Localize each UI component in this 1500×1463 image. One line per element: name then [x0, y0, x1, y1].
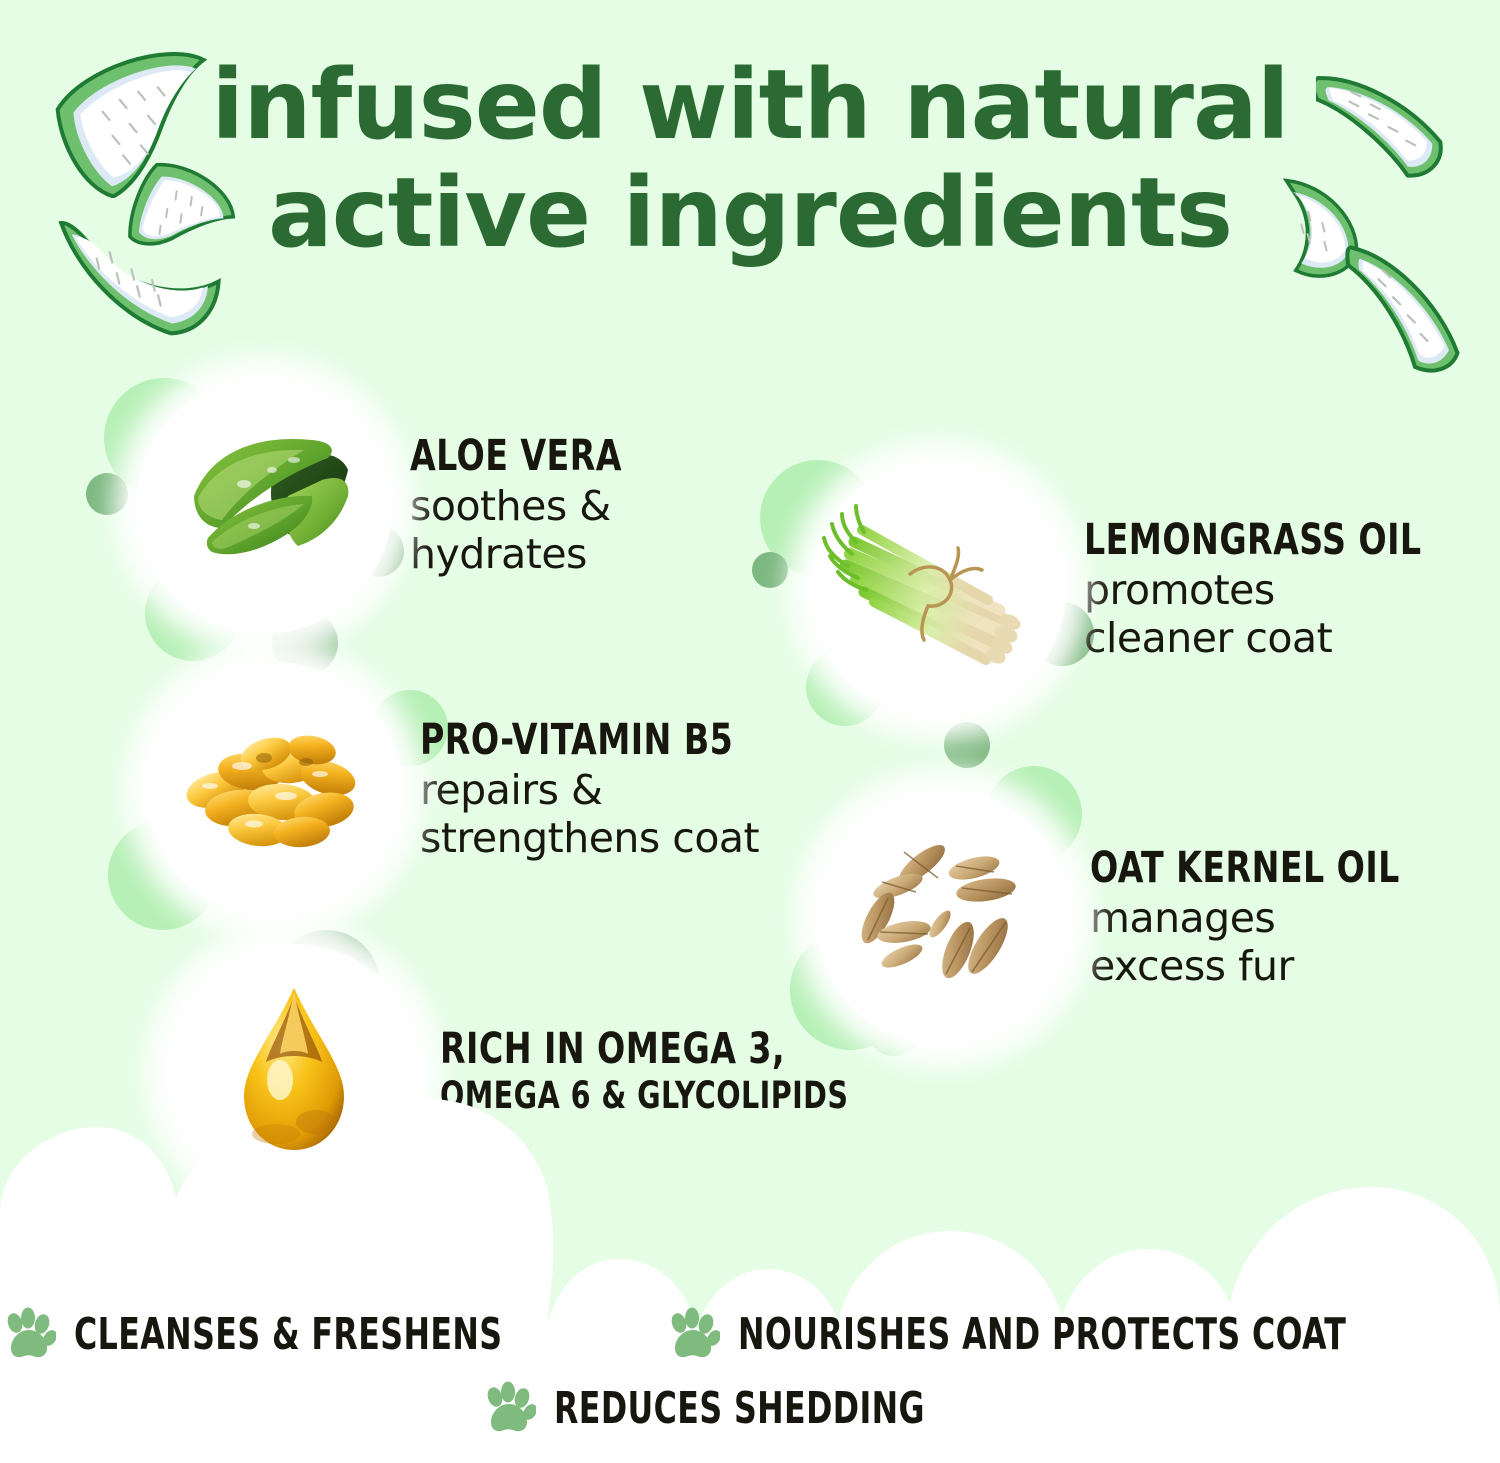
- oil-droplet-photo: [166, 944, 422, 1200]
- deco-circle-sage: [86, 473, 128, 515]
- aloe-vera-photo: [136, 378, 392, 634]
- headline-line-2: active ingredients: [0, 160, 1500, 268]
- lemongrass-photo: [810, 462, 1066, 718]
- vitamin-capsules-photo: [146, 662, 402, 918]
- benefit-item: NOURISHES AND PROTECTS COAT: [666, 1307, 1498, 1361]
- ingredient-title: RICH IN OMEGA 3,: [440, 1027, 848, 1073]
- headline-line-1: infused with natural: [211, 49, 1288, 161]
- ingredient-title: OAT KERNEL OIL: [1090, 846, 1400, 892]
- ingredient-title: ALOE VERA: [410, 434, 622, 480]
- ingredient-aloe-vera: ALOE VERA soothes & hydrates: [136, 378, 656, 634]
- pro-vitamin-b5-text: PRO-VITAMIN B5 repairs & strengthens coa…: [402, 718, 784, 863]
- benefits-row-1: CLEANSES & FRESHENS NOURISHES AND PROTEC…: [0, 1307, 1500, 1361]
- omega-photo: [166, 944, 422, 1200]
- ingredient-desc: promotes cleaner coat: [1084, 567, 1477, 662]
- benefits-bar: CLEANSES & FRESHENS NOURISHES AND PROTEC…: [0, 1307, 1500, 1435]
- ingredient-title: LEMONGRASS OIL: [1084, 518, 1422, 564]
- ingredient-title: PRO-VITAMIN B5: [420, 718, 733, 764]
- lemongrass-bundle-photo: [810, 462, 1066, 718]
- deco-circle-sage: [752, 552, 788, 588]
- benefit-label: REDUCES SHEDDING: [554, 1383, 925, 1434]
- pro-vitamin-b5-photo: [146, 662, 402, 918]
- ingredient-oat-kernel-oil: OAT KERNEL OIL manages excess fur: [816, 790, 1450, 1046]
- ingredient-omega: RICH IN OMEGA 3, OMEGA 6 & GLYCOLIPIDS: [166, 944, 915, 1200]
- lemongrass-oil-text: LEMONGRASS OIL promotes cleaner coat: [1066, 518, 1477, 663]
- oat-kernel-oil-text: OAT KERNEL OIL manages excess fur: [1072, 846, 1450, 991]
- paw-icon: [482, 1381, 536, 1435]
- benefit-item: CLEANSES & FRESHENS: [2, 1307, 610, 1361]
- page-title: infused with natural active ingredients: [0, 52, 1500, 267]
- ingredient-lemongrass-oil: LEMONGRASS OIL promotes cleaner coat: [810, 462, 1477, 718]
- aloe-vera-text: ALOE VERA soothes & hydrates: [392, 434, 656, 579]
- paw-icon: [666, 1307, 720, 1361]
- oat-kernel-photo: [816, 790, 1072, 1046]
- benefit-label: NOURISHES AND PROTECTS COAT: [738, 1309, 1346, 1360]
- deco-circle-sage: [944, 722, 990, 768]
- ingredient-title-line2: OMEGA 6 & GLYCOLIPIDS: [440, 1076, 848, 1117]
- benefit-item: REDUCES SHEDDING: [482, 1381, 1018, 1435]
- benefits-row-2: REDUCES SHEDDING: [0, 1381, 1500, 1435]
- benefit-label: CLEANSES & FRESHENS: [74, 1309, 503, 1360]
- ingredient-pro-vitamin-b5: PRO-VITAMIN B5 repairs & strengthens coa…: [146, 662, 784, 918]
- ingredient-desc: soothes & hydrates: [410, 483, 656, 578]
- paw-icon: [2, 1307, 56, 1361]
- aloe-vera-slices-photo: [136, 378, 392, 634]
- oat-kernels-photo: [816, 790, 1072, 1046]
- ingredient-desc: manages excess fur: [1090, 895, 1450, 990]
- ingredient-desc: repairs & strengthens coat: [420, 767, 784, 862]
